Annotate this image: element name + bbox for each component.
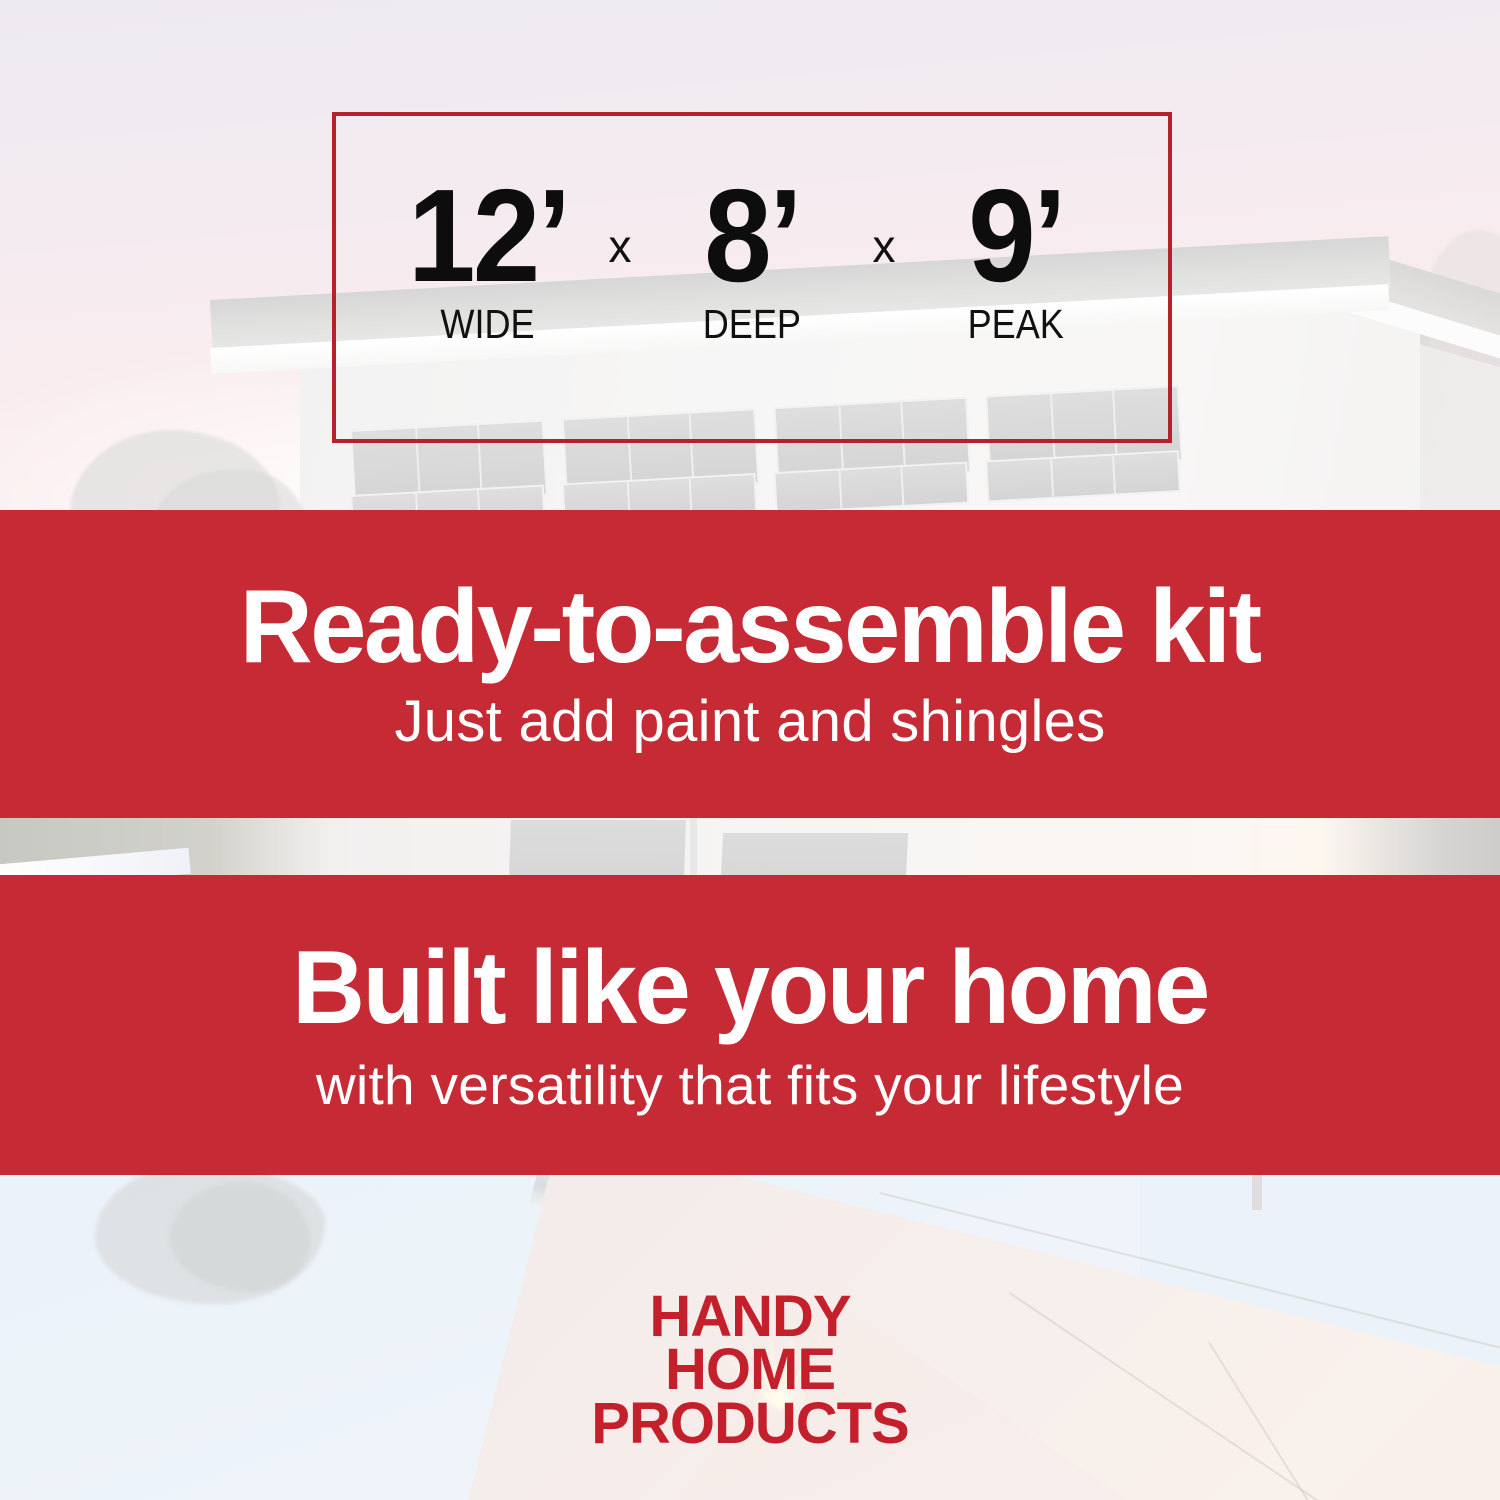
brand-logo-line-1: HANDY [0, 1290, 1500, 1343]
brand-logo-line-2: HOME [0, 1343, 1500, 1396]
shed-door-panel [721, 833, 908, 878]
dimension-separator: x [852, 219, 916, 273]
product-infographic: 12’ WIDE x 8’ DEEP x 9’ PEAK Ready-to-as… [0, 0, 1500, 1500]
dimension-value: 9’ [968, 175, 1064, 296]
banner-title: Ready-to-assemble kit [240, 574, 1260, 680]
deck-post [1252, 1172, 1262, 1210]
dimension-wide: 12’ WIDE [388, 175, 588, 345]
dimension-separator: x [588, 219, 652, 273]
banner-title: Built like your home [292, 935, 1208, 1041]
feature-banner-built-like-your-home: Built like your home with versatility th… [0, 875, 1500, 1175]
dimension-row: 12’ WIDE x 8’ DEEP x 9’ PEAK [332, 175, 1172, 345]
dimension-peak: 9’ PEAK [916, 175, 1116, 345]
dimension-value: 12’ [408, 175, 569, 296]
dimension-label: DEEP [703, 304, 801, 345]
brand-logo-line-3: PRODUCTS [0, 1397, 1500, 1450]
shed-door-panel [509, 820, 686, 878]
banner-subtitle: Just add paint and shingles [394, 690, 1105, 754]
dimension-value: 8’ [704, 175, 800, 296]
shed-door-handle [690, 818, 697, 878]
banner-subtitle: with versatility that fits your lifestyl… [316, 1055, 1184, 1116]
dimension-label: WIDE [441, 304, 535, 345]
dimension-label: PEAK [968, 304, 1064, 345]
brand-logo: HANDY HOME PRODUCTS [0, 1290, 1500, 1450]
feature-banner-ready-to-assemble: Ready-to-assemble kit Just add paint and… [0, 510, 1500, 818]
dimension-deep: 8’ DEEP [652, 175, 852, 345]
